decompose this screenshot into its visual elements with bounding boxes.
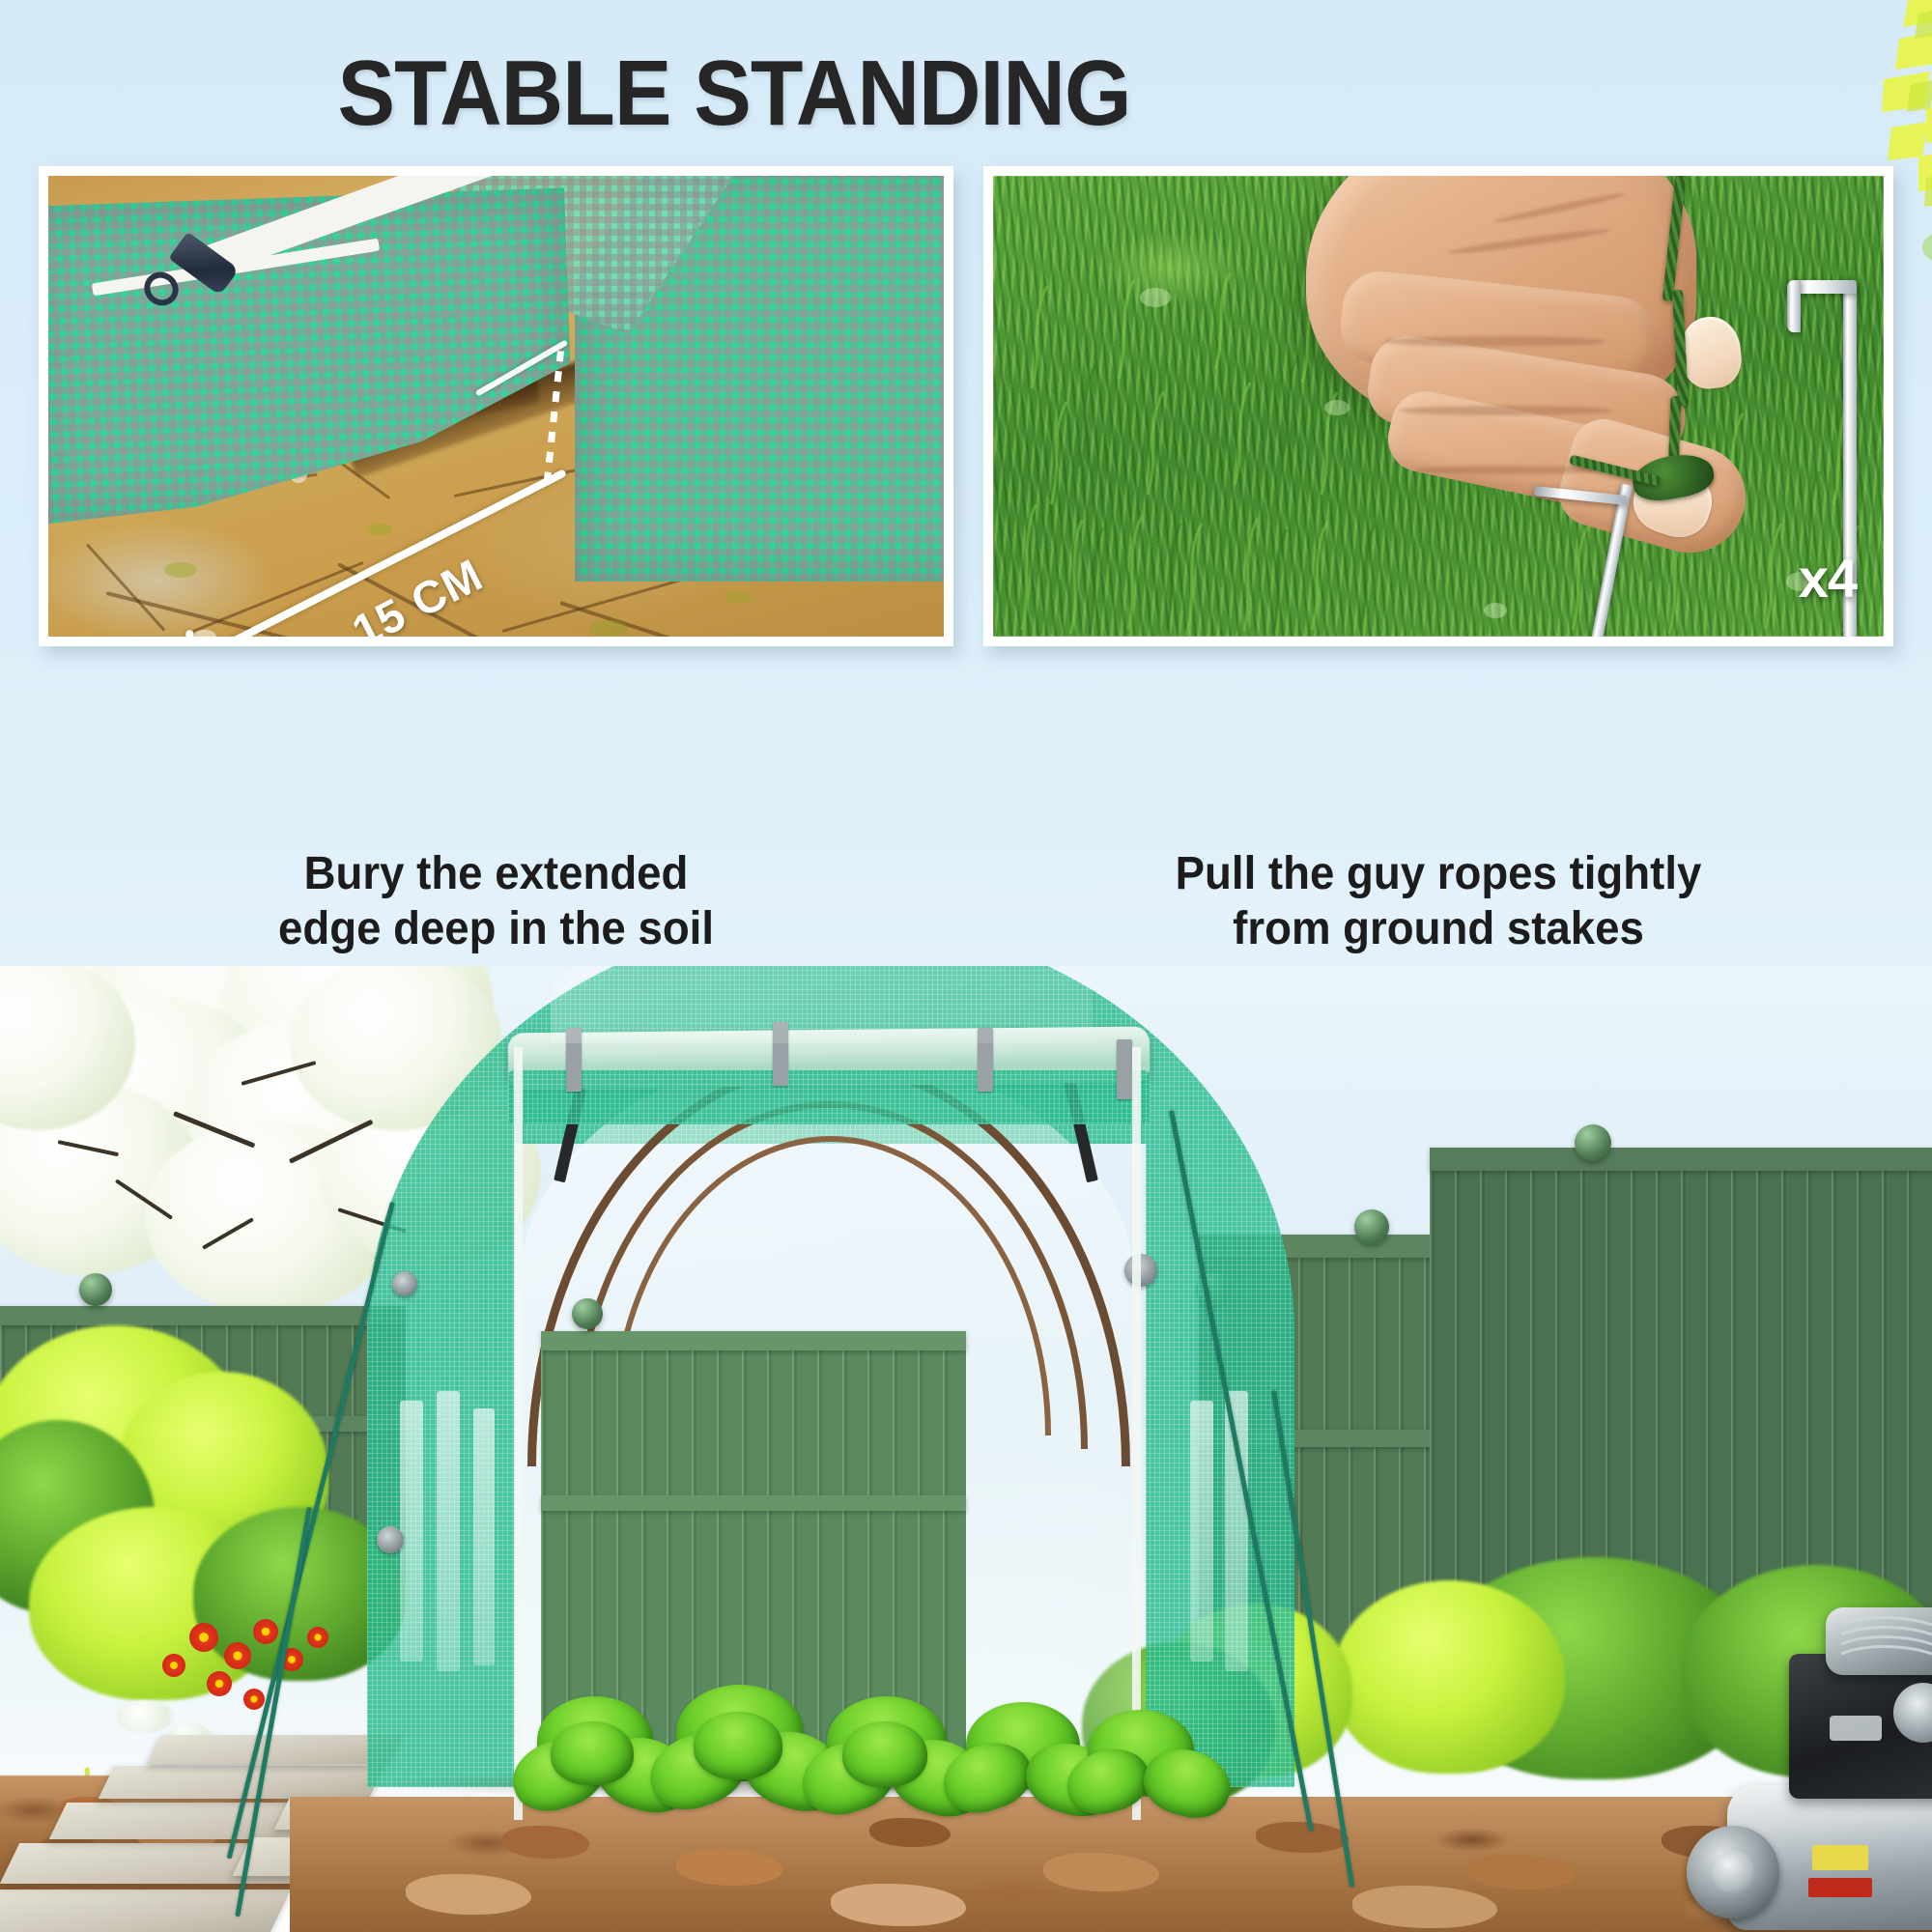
cover-window [473,1408,495,1665]
caption-left-line2: edge deep in the soil [62,902,931,957]
door-beam-cover [508,1070,1150,1124]
fence-post-ball [79,1273,112,1306]
caption-right-line1: Pull the guy ropes tightly [1007,847,1871,902]
buried-edge-photo: 15 CM [48,176,944,637]
buried-edge-photo-card: 15 CM [39,166,953,646]
mower-engine-badge [1830,1716,1882,1741]
fence-rail [541,1495,966,1511]
quantity-badge: x4 [1799,547,1857,610]
roll-clip [1117,1039,1132,1099]
fence-post-ball [572,1298,603,1329]
cover-window [400,1401,423,1662]
shrub-lime [1333,1580,1565,1774]
cover-window [1190,1401,1213,1662]
mower-brand-label [1808,1878,1872,1897]
fence-post-ball [1575,1124,1611,1161]
caption-left: Bury the extended edge deep in the soil [62,847,931,956]
fence-post-ball [1354,1209,1389,1244]
door-seam-right [1132,1047,1141,1820]
mesh-vent [377,1526,404,1553]
guy-rope-photo-card: x4 [983,166,1893,646]
caption-right: Pull the guy ropes tightly from ground s… [1007,847,1871,956]
cover-window [437,1391,460,1671]
mower-hubcap [1712,1851,1754,1893]
fence-rail [0,1306,406,1325]
fence-rail [541,1331,966,1350]
guy-rope-photo: x4 [993,176,1884,637]
caption-right-line2: from ground stakes [1007,902,1871,957]
caption-left-line1: Bury the extended [62,847,931,902]
hero-scene [0,966,1932,1932]
roof-sheen [551,966,1092,1043]
mesh-vent [1124,1254,1157,1287]
marketing-page: STABLE STANDING [0,0,1932,1932]
mower-air-vents [1835,1611,1932,1667]
mesh-vent [392,1271,417,1296]
door-seam-left [514,1047,523,1820]
mower-warning-label [1812,1845,1868,1870]
page-title: STABLE STANDING [51,41,1417,147]
fence-rail [1430,1148,1932,1171]
